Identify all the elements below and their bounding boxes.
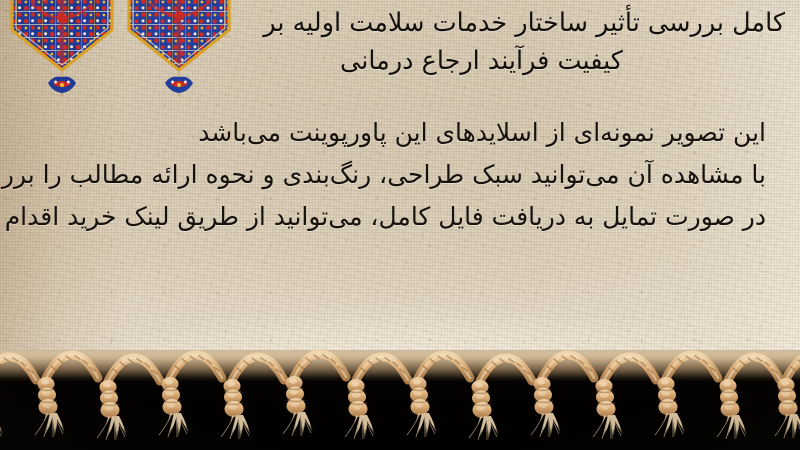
slide-title: کامل بررسی تأثیر ساختار خدمات سلامت اولی…	[240, 4, 785, 80]
title-line-1: کامل بررسی تأثیر ساختار خدمات سلامت اولی…	[240, 4, 785, 42]
persian-medallion-left-icon	[10, 0, 114, 96]
body-line-2: با مشاهده آن می‌توانید سبک طراحی، رنگ‌بن…	[22, 154, 766, 195]
persian-medallion-right-icon	[127, 0, 231, 96]
body-line-1: این تصویر نمونه‌ای از اسلایدهای این پاور…	[22, 112, 766, 153]
slide-canvas: کامل بررسی تأثیر ساختار خدمات سلامت اولی…	[0, 0, 800, 450]
carpet-fringe	[0, 350, 800, 450]
body-line-3: در صورت تمایل به دریافت فایل کامل، می‌تو…	[22, 196, 766, 237]
title-line-2: کیفیت فرآیند ارجاع درمانی	[240, 42, 785, 80]
fringe-tassels-icon	[0, 350, 800, 450]
slide-body: این تصویر نمونه‌ای از اسلایدهای این پاور…	[22, 112, 766, 237]
